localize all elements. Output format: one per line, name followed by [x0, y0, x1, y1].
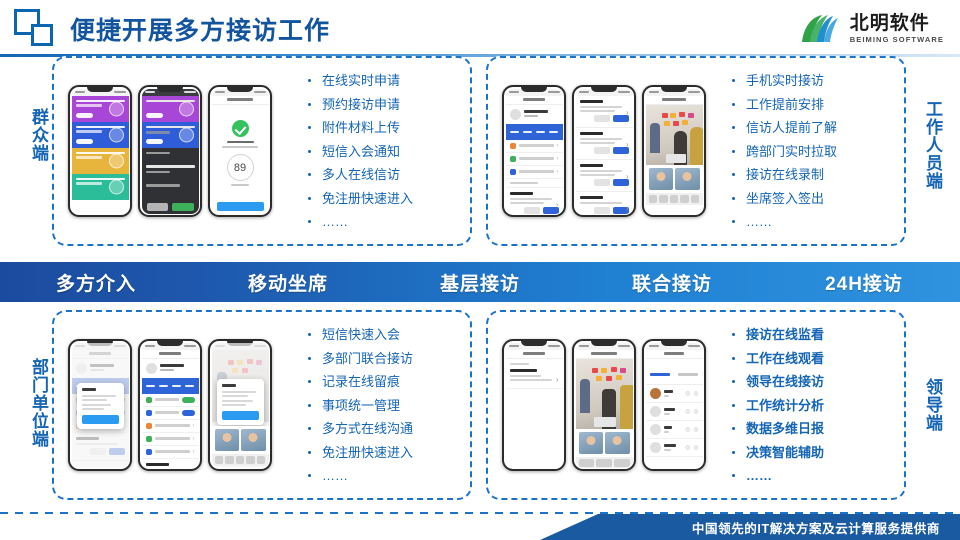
dialog-confirm-button[interactable]	[222, 411, 259, 420]
meeting-photo	[646, 105, 703, 165]
list-item: 多部门联合接访	[304, 352, 460, 365]
phone-group-q1: 89	[68, 85, 272, 217]
phone-mockup: › › › ›	[502, 85, 566, 217]
list-item: 信访人提前了解	[728, 121, 890, 134]
tab-bar[interactable]	[646, 359, 703, 385]
side-label-q4: 领导端	[912, 378, 942, 432]
panel-public-client: 89 在线实时申请 预约接访申请 附件材料上传 短信入会通知 多人在线信访 免注…	[52, 56, 472, 246]
list-item: 附件材料上传	[304, 121, 460, 134]
feature-list-q4: 接访在线监看 工作在线观看 领导在线接访 工作统计分析 数据多维日报 决策智能辅…	[728, 328, 890, 482]
list-item: 免注册快速进入	[304, 192, 460, 205]
banner-item-1: 移动坐席	[192, 269, 384, 296]
phone-mockup	[68, 85, 132, 217]
primary-action-button[interactable]	[217, 202, 264, 211]
list-item: 工作统计分析	[728, 399, 890, 412]
list-item: 多方式在线沟通	[304, 422, 460, 435]
feature-banner: 多方介入 移动坐席 基层接访 联合接访 24H接访	[0, 262, 960, 302]
list-item: 跨部门实时拉取	[728, 145, 890, 158]
phone-group-q4: ›	[502, 339, 706, 471]
phone-mockup	[642, 85, 706, 217]
banner-item-2: 基层接访	[384, 269, 576, 296]
list-item: 手机实时接访	[728, 74, 890, 87]
feature-list-q1: 在线实时申请 预约接访申请 附件材料上传 短信入会通知 多人在线信访 免注册快速…	[304, 74, 460, 228]
overlapping-squares-icon	[14, 9, 60, 49]
list-item: 领导在线接访	[728, 375, 890, 388]
brand-name-cn: 北明软件	[850, 14, 944, 34]
side-label-q3: 部门单位端	[18, 358, 48, 448]
fan-wave-logo-icon	[798, 12, 842, 46]
banner-item-4: 24H接访	[768, 269, 960, 296]
list-item: ……	[304, 215, 460, 228]
dialog-modal[interactable]	[77, 383, 124, 430]
list-item: 数据多维日报	[728, 422, 890, 435]
success-check-icon	[232, 120, 249, 137]
phone-mockup: › › › ›	[138, 339, 202, 471]
feature-list-q2: 手机实时接访 工作提前安排 信访人提前了解 跨部门实时拉取 接访在线录制 坐席签…	[728, 74, 890, 228]
list-item: 免注册快速进入	[304, 446, 460, 459]
list-item: 事项统一管理	[304, 399, 460, 412]
dialog-confirm-button[interactable]	[82, 415, 119, 424]
slide-root: 便捷开展多方接访工作 北明软件 BEIMING SOFTWARE 群众端 工作人…	[0, 0, 960, 540]
list-item: 坐席签入签出	[728, 192, 890, 205]
tab-inactive[interactable]	[674, 359, 703, 384]
list-item: 记录在线留痕	[304, 375, 460, 388]
banner-item-3: 联合接访	[576, 269, 768, 296]
list-item: 短信快速入会	[304, 328, 460, 341]
slide-header: 便捷开展多方接访工作 北明软件 BEIMING SOFTWARE	[0, 0, 960, 56]
phone-mockup	[208, 339, 272, 471]
panel-leader-client: ›	[486, 310, 906, 500]
tab-active[interactable]	[646, 359, 675, 384]
list-item: 预约接访申请	[304, 98, 460, 111]
phone-group-q3: › ›	[68, 339, 272, 471]
footer-dashed-rule	[0, 512, 960, 514]
phone-mockup: ◎◎ ◎◎ ◎◎ ◎◎	[642, 339, 706, 471]
list-item: 接访在线监看	[728, 328, 890, 341]
list-item: ……	[728, 215, 890, 228]
side-label-q2: 工作人员端	[912, 100, 942, 190]
list-item: 工作在线观看	[728, 352, 890, 365]
phone-mockup: ›	[502, 339, 566, 471]
list-item: ……	[304, 469, 460, 482]
list-item: 工作提前安排	[728, 98, 890, 111]
footer-tagline: 中国领先的IT解决方案及云计算服务提供商	[540, 514, 960, 540]
list-item: 短信入会通知	[304, 145, 460, 158]
brand-logo: 北明软件 BEIMING SOFTWARE	[798, 9, 944, 49]
brand-name-en: BEIMING SOFTWARE	[850, 35, 944, 44]
feature-list-q3: 短信快速入会 多部门联合接访 记录在线留痕 事项统一管理 多方式在线沟通 免注册…	[304, 328, 460, 482]
banner-item-0: 多方介入	[0, 269, 192, 296]
list-item: 接访在线录制	[728, 168, 890, 181]
phone-mockup: › › › ›	[572, 85, 636, 217]
phone-mockup	[572, 339, 636, 471]
side-label-q1: 群众端	[18, 108, 48, 162]
panel-department-client: › ›	[52, 310, 472, 500]
page-title: 便捷开展多方接访工作	[70, 11, 330, 47]
dialog-modal[interactable]	[217, 379, 264, 426]
list-item: 在线实时申请	[304, 74, 460, 87]
list-item: 多人在线信访	[304, 168, 460, 181]
phone-group-q2: › › › › › › ›	[502, 85, 706, 217]
score-ring: 89	[227, 154, 254, 181]
panel-staff-client: › › › › › › ›	[486, 56, 906, 246]
meeting-photo	[576, 359, 633, 429]
phone-mockup: › ›	[68, 339, 132, 471]
phone-mockup	[138, 85, 202, 217]
phone-mockup: 89	[208, 85, 272, 217]
list-item: 决策智能辅助	[728, 446, 890, 459]
list-item: ……	[728, 469, 890, 482]
